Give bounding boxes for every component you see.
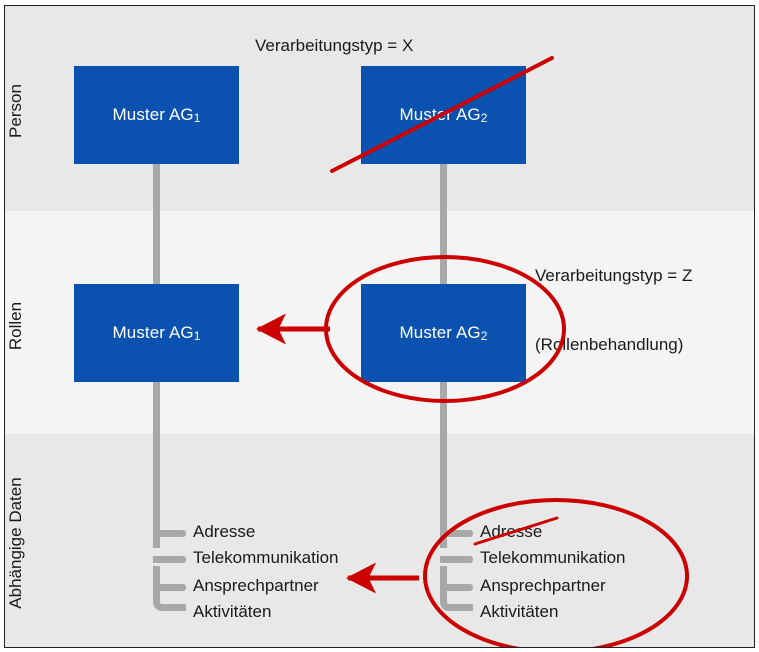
diagram-frame: Person Rollen Abhängige Daten Verarbeitu… — [4, 5, 755, 648]
node-rollen-muster-ag-1[interactable]: Muster AG1 — [74, 284, 239, 382]
note-verarbeitungstyp-x: Verarbeitungstyp = X — [255, 34, 413, 57]
tree-branch-right-2 — [440, 556, 473, 563]
node-rollen-muster-ag-1-label: Muster AG1 — [113, 323, 201, 343]
dependent-data-left-item-0: Adresse — [193, 522, 255, 542]
swimlane-label-person: Person — [6, 11, 26, 211]
node-person-muster-ag-1[interactable]: Muster AG1 — [74, 66, 239, 164]
tree-elbow-left-4 — [153, 566, 186, 611]
dependent-data-right-item-2: Ansprechpartner — [480, 576, 606, 596]
node-person-muster-ag-2[interactable]: Muster AG2 — [361, 66, 526, 164]
dependent-data-right-item-0: Adresse — [480, 522, 542, 542]
dependent-data-right-item-3: Aktivitäten — [480, 602, 558, 622]
dependent-data-left-item-3: Aktivitäten — [193, 602, 271, 622]
tree-branch-left-1 — [153, 530, 186, 537]
diagram-canvas: Person Rollen Abhängige Daten Verarbeitu… — [0, 0, 759, 652]
tree-elbow-right-4 — [440, 566, 473, 611]
swimlane-label-abhaengige-daten: Abhängige Daten — [6, 443, 26, 643]
node-person-muster-ag-1-label: Muster AG1 — [113, 105, 201, 125]
tree-branch-left-2 — [153, 556, 186, 563]
note-verarbeitungstyp-z-line2: (Rollenbehandlung) — [535, 333, 692, 356]
note-verarbeitungstyp-z-line1: Verarbeitungstyp = Z — [535, 264, 692, 287]
dependent-data-left-item-2: Ansprechpartner — [193, 576, 319, 596]
dependent-data-right-item-1: Telekommunikation — [480, 548, 626, 568]
swimlane-abhaengige-daten — [5, 434, 754, 647]
dependent-data-left-item-1: Telekommunikation — [193, 548, 339, 568]
node-person-muster-ag-2-label: Muster AG2 — [400, 105, 488, 125]
swimlane-label-rollen: Rollen — [6, 226, 26, 426]
note-verarbeitungstyp-z: Verarbeitungstyp = Z (Rollenbehandlung) — [535, 218, 692, 402]
node-rollen-muster-ag-2[interactable]: Muster AG2 — [361, 284, 526, 382]
node-rollen-muster-ag-2-label: Muster AG2 — [400, 323, 488, 343]
tree-branch-right-1 — [440, 530, 473, 537]
